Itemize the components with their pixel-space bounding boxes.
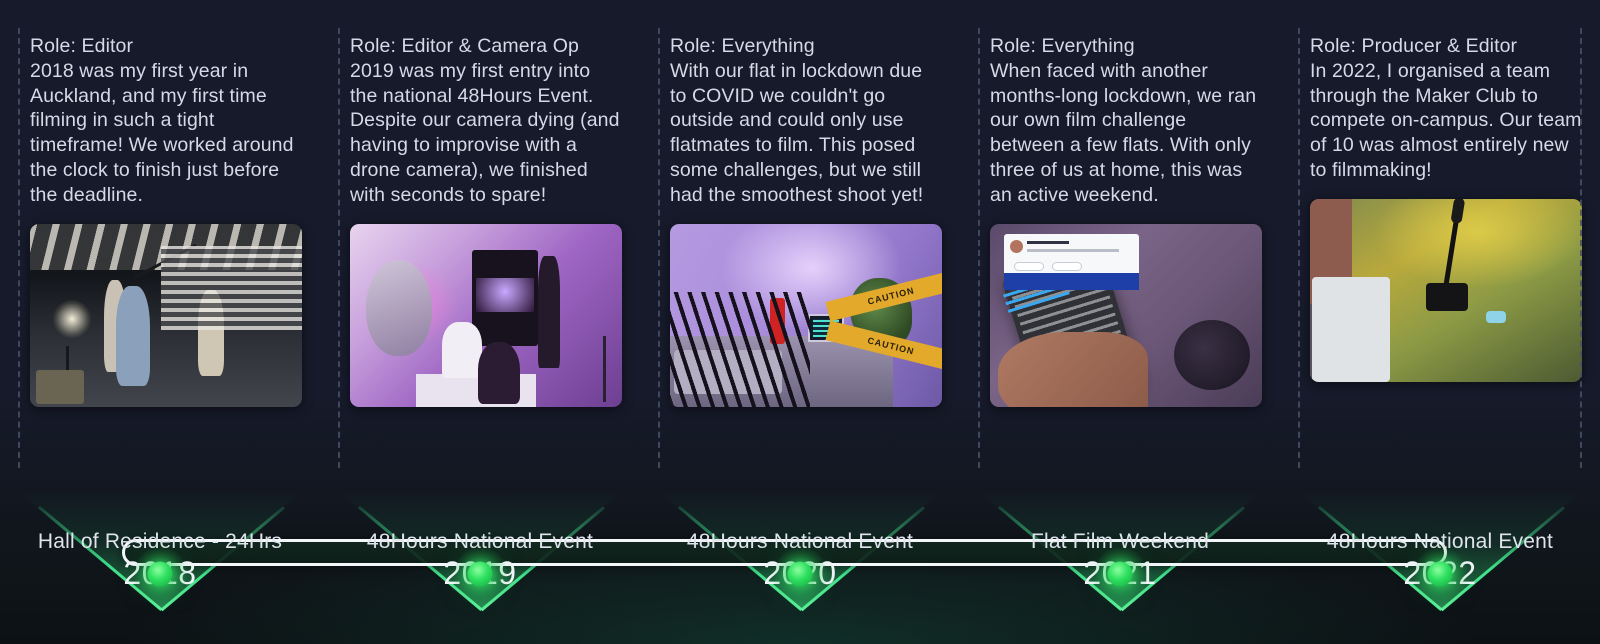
entry-description: In 2022, I organised a team through the … bbox=[1310, 60, 1581, 181]
entry-photo-2021[interactable] bbox=[990, 224, 1262, 407]
entry-photo-2020[interactable]: CAUTION CAUTION bbox=[670, 224, 942, 407]
entry-description: 2019 was my first entry into the nationa… bbox=[350, 60, 620, 206]
van-prop bbox=[1312, 277, 1390, 382]
face-mask-prop bbox=[1486, 311, 1506, 323]
entry-role: Role: Producer & Editor bbox=[1310, 34, 1582, 59]
notification-card bbox=[1004, 234, 1139, 290]
node-marker[interactable] bbox=[788, 562, 813, 587]
crew-person bbox=[116, 286, 150, 386]
timeline-column-2022[interactable]: Role: Producer & EditorIn 2022, I organi… bbox=[1280, 0, 1600, 450]
timeline-node-2022[interactable]: 48Hours National Event 2022 bbox=[1280, 434, 1600, 644]
camera-prop bbox=[1426, 283, 1468, 311]
timeline-node-2020[interactable]: 48Hours National Event 2020 bbox=[640, 434, 960, 644]
entry-blurb: Role: EverythingWhen faced with another … bbox=[990, 34, 1262, 208]
timeline-columns: Role: Editor2018 was my first year in Au… bbox=[0, 0, 1600, 450]
photo-scene: CAUTION CAUTION bbox=[670, 224, 942, 407]
card-button bbox=[1014, 262, 1044, 271]
crew-person bbox=[538, 256, 560, 368]
entry-photo-2019[interactable] bbox=[350, 224, 622, 407]
node-dot[interactable] bbox=[1428, 562, 1453, 587]
background-blob bbox=[1174, 320, 1250, 390]
timeline-column-2019[interactable]: Role: Editor & Camera Op2019 was my firs… bbox=[320, 0, 640, 450]
crew-person bbox=[442, 322, 482, 378]
node-dot[interactable] bbox=[788, 562, 813, 587]
timeline-node-2021[interactable]: Flat Film Weekend 2021 bbox=[960, 434, 1280, 644]
equipment-case bbox=[36, 370, 84, 404]
entry-role: Role: Everything bbox=[990, 34, 1262, 59]
photo-scene bbox=[30, 224, 302, 407]
entry-photo-2018[interactable] bbox=[30, 224, 302, 407]
photo-scene bbox=[1310, 199, 1582, 382]
node-marker[interactable] bbox=[148, 562, 173, 587]
node-dot[interactable] bbox=[468, 562, 493, 587]
node-dot[interactable] bbox=[1108, 562, 1133, 587]
entry-role: Role: Editor bbox=[30, 34, 302, 59]
entry-blurb: Role: EverythingWith our flat in lockdow… bbox=[670, 34, 942, 208]
reflector-prop bbox=[366, 260, 432, 356]
entry-role: Role: Everything bbox=[670, 34, 942, 59]
card-title-line bbox=[1027, 241, 1069, 244]
node-marker[interactable] bbox=[468, 562, 493, 587]
photo-scene bbox=[350, 224, 622, 407]
timeline-node-2019[interactable]: 48Hours National Event 2019 bbox=[320, 434, 640, 644]
timeline-nodes: Hall of Residence - 24Hrs 2018 48Hours N… bbox=[0, 434, 1600, 644]
entry-description: 2018 was my first year in Auckland, and … bbox=[30, 60, 294, 206]
card-button bbox=[1052, 262, 1082, 271]
entry-description: When faced with another months-long lock… bbox=[990, 60, 1256, 206]
entry-photo-2022[interactable] bbox=[1310, 199, 1582, 382]
timeline-infographic: Role: Editor2018 was my first year in Au… bbox=[0, 0, 1600, 644]
hand bbox=[998, 332, 1148, 407]
entry-description: With our flat in lockdown due to COVID w… bbox=[670, 60, 923, 206]
card-body-line bbox=[1027, 249, 1119, 252]
tv-screen-prop bbox=[472, 250, 538, 346]
boom-mic-prop bbox=[133, 243, 196, 279]
cables-prop bbox=[670, 292, 810, 407]
entry-blurb: Role: Producer & EditorIn 2022, I organi… bbox=[1310, 34, 1582, 183]
photo-scene bbox=[990, 224, 1262, 407]
node-marker[interactable] bbox=[1428, 562, 1453, 587]
timeline-column-2021[interactable]: Role: EverythingWhen faced with another … bbox=[960, 0, 1280, 450]
timeline-node-2018[interactable]: Hall of Residence - 24Hrs 2018 bbox=[0, 434, 320, 644]
crew-person bbox=[198, 290, 224, 376]
node-marker[interactable] bbox=[1108, 562, 1133, 587]
timeline-column-2020[interactable]: Role: EverythingWith our flat in lockdow… bbox=[640, 0, 960, 450]
timeline-column-2018[interactable]: Role: Editor2018 was my first year in Au… bbox=[0, 0, 320, 450]
node-dot[interactable] bbox=[148, 562, 173, 587]
entry-blurb: Role: Editor & Camera Op2019 was my firs… bbox=[350, 34, 622, 208]
entry-blurb: Role: Editor2018 was my first year in Au… bbox=[30, 34, 302, 208]
crew-person bbox=[478, 342, 520, 404]
tripod-prop bbox=[603, 336, 606, 402]
entry-role: Role: Editor & Camera Op bbox=[350, 34, 622, 59]
